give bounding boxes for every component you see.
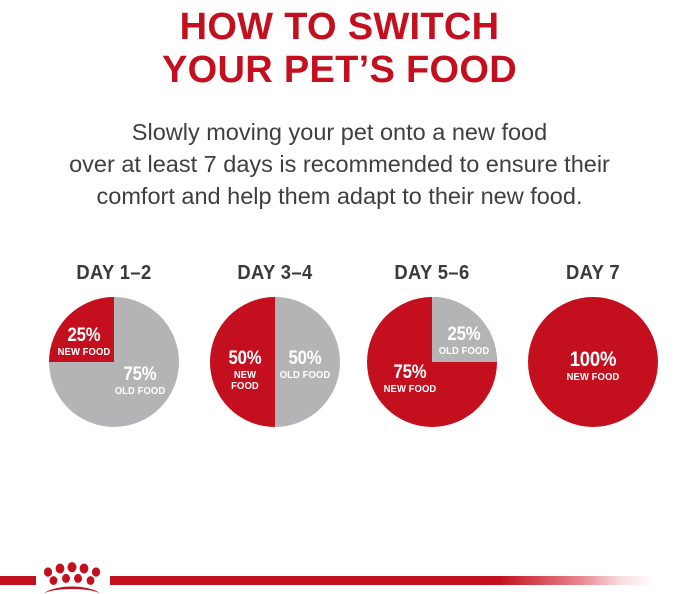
pie-chart-day-5-6: DAY 5–6 25% OLD FOOD 75% NEW FOOD xyxy=(352,262,512,447)
pie-graphic-day-3-4: 50% NEW FOOD 50% OLD FOOD xyxy=(210,297,340,427)
royal-canin-crown-logo-icon xyxy=(38,560,106,594)
pie-chart-day-7: DAY 7 100% NEW FOOD xyxy=(513,262,673,447)
pie-slice-new-food xyxy=(528,297,658,427)
pie-svg-day-1-2 xyxy=(49,297,179,427)
pie-svg-day-7 xyxy=(528,297,658,427)
pie-label-day-5-6: DAY 5–6 xyxy=(358,262,505,284)
pie-svg-day-5-6 xyxy=(367,297,497,427)
footer xyxy=(0,542,679,594)
transition-schedule-chart: DAY 1–2 25% NEW FOOD 75% OLD FOOD DAY 3–… xyxy=(0,262,679,452)
pie-chart-day-1-2: DAY 1–2 25% NEW FOOD 75% OLD FOOD xyxy=(34,262,194,447)
intro-line-2: over at least 7 days is recommended to e… xyxy=(0,148,679,180)
pie-label-day-1-2: DAY 1–2 xyxy=(40,262,187,284)
page-title-line-2: YOUR PET’S FOOD xyxy=(0,49,679,92)
intro-paragraph: Slowly moving your pet onto a new food o… xyxy=(0,116,679,212)
intro-line-3: comfort and help them adapt to their new… xyxy=(0,180,679,212)
footer-bar-right xyxy=(110,576,679,585)
pie-chart-day-3-4: DAY 3–4 50% NEW FOOD 50% OLD FOOD xyxy=(195,262,355,447)
pie-slice-new-food xyxy=(210,297,275,427)
pie-slice-new-food xyxy=(49,297,114,362)
pie-label-day-3-4: DAY 3–4 xyxy=(201,262,348,284)
pie-graphic-day-7: 100% NEW FOOD xyxy=(528,297,658,427)
pie-graphic-day-5-6: 25% OLD FOOD 75% NEW FOOD xyxy=(367,297,497,427)
page-title: HOW TO SWITCH YOUR PET’S FOOD xyxy=(0,6,679,92)
intro-line-1: Slowly moving your pet onto a new food xyxy=(0,116,679,148)
pie-label-day-7: DAY 7 xyxy=(519,262,666,284)
page-title-line-1: HOW TO SWITCH xyxy=(0,6,679,49)
pie-svg-day-3-4 xyxy=(210,297,340,427)
pie-graphic-day-1-2: 25% NEW FOOD 75% OLD FOOD xyxy=(49,297,179,427)
footer-bar-left xyxy=(0,576,36,585)
pie-slice-old-food xyxy=(432,297,497,362)
